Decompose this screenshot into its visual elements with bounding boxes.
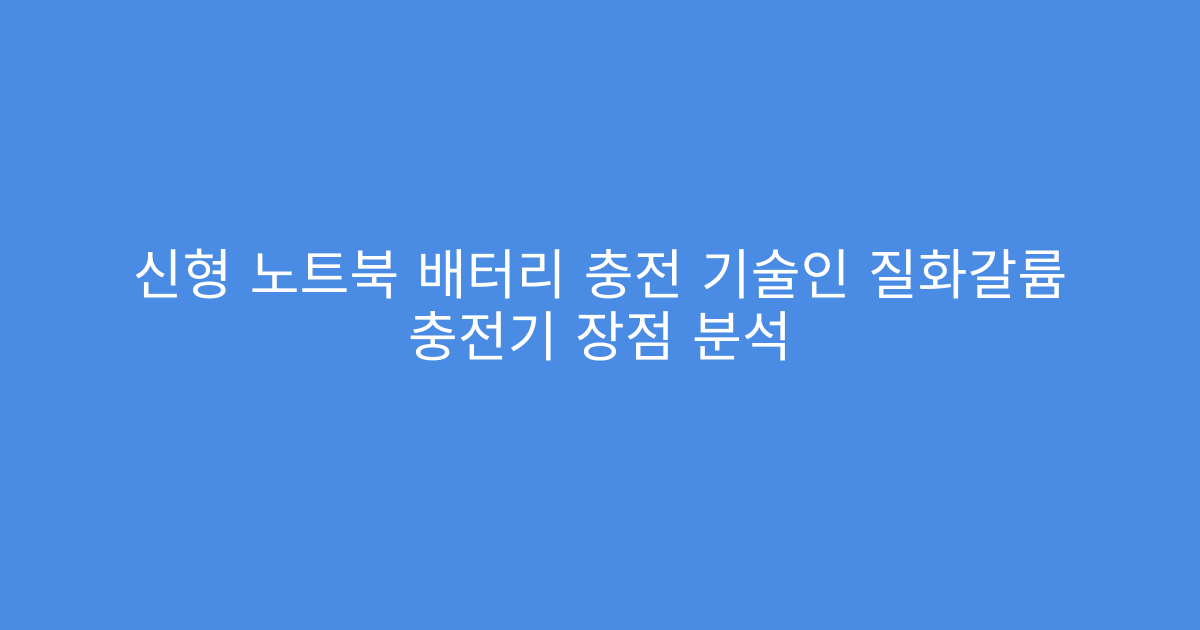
title-card: 신형 노트북 배터리 충전 기술인 질화갈륨 충전기 장점 분석 bbox=[0, 0, 1200, 630]
title-block: 신형 노트북 배터리 충전 기술인 질화갈륨 충전기 장점 분석 bbox=[70, 245, 1130, 369]
page-title: 신형 노트북 배터리 충전 기술인 질화갈륨 충전기 장점 분석 bbox=[70, 245, 1130, 369]
